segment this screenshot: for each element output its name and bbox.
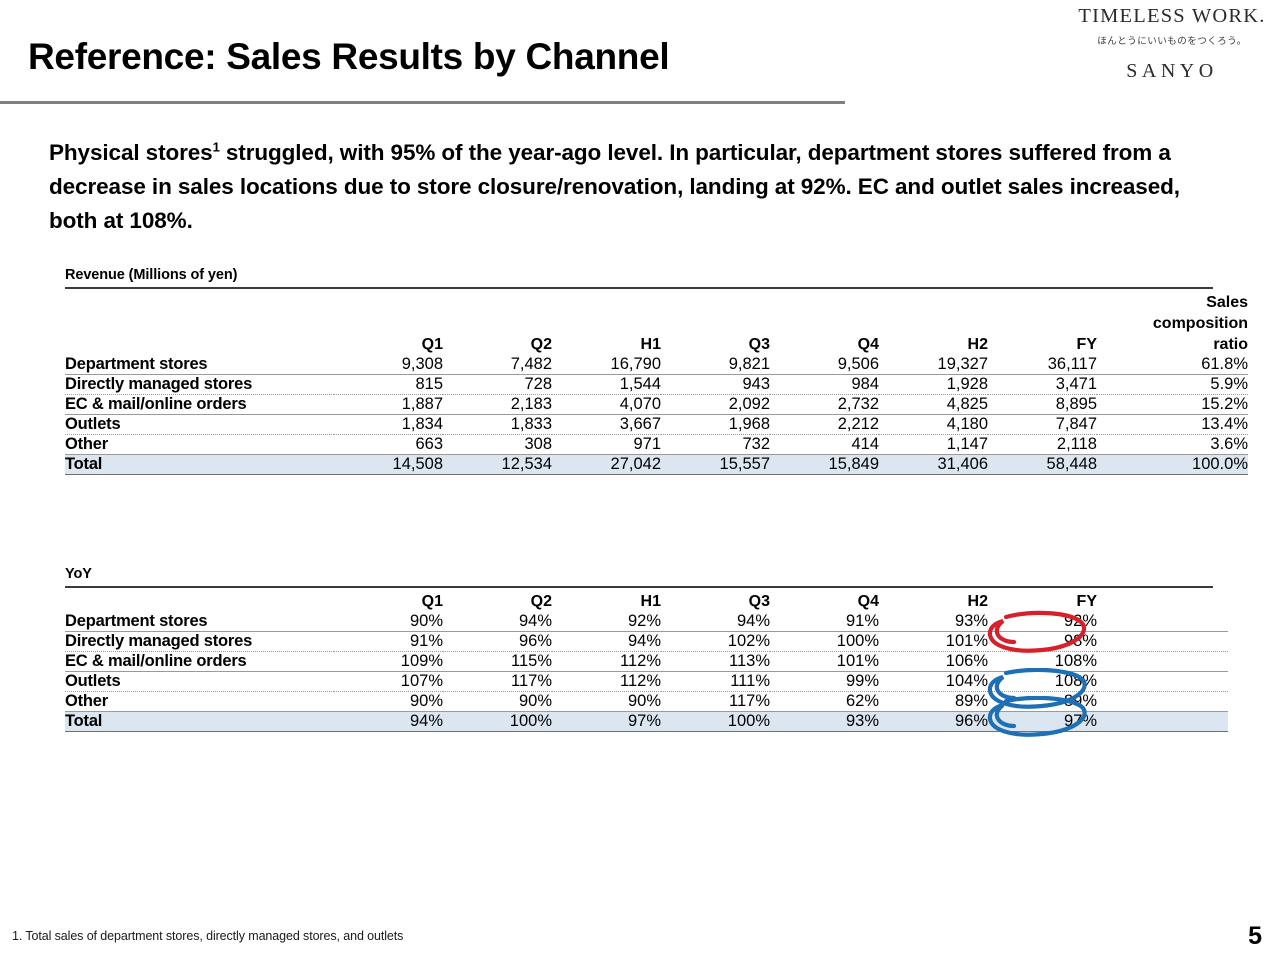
revenue-ratio-cell: 100.0%	[1097, 455, 1248, 475]
revenue-header-row: Q1 Q2 H1 Q3 Q4 H2 FY Sales composition r…	[65, 292, 1248, 355]
yoy-cell: 96%	[879, 712, 988, 732]
revenue-row-label: Other	[65, 435, 334, 455]
revenue-row-label: Total	[65, 455, 334, 475]
revenue-row-label: Directly managed stores	[65, 375, 334, 395]
yoy-cell: 117%	[443, 672, 552, 692]
revenue-cell: 1,833	[443, 415, 552, 435]
yoy-cell: 107%	[334, 672, 443, 692]
yoy-cell: 90%	[334, 612, 443, 632]
revenue-cell: 19,327	[879, 355, 988, 375]
yoy-cell: 97%	[552, 712, 661, 732]
yoy-cell: 96%	[443, 632, 552, 652]
revenue-cell: 732	[661, 435, 770, 455]
yoy-row-label: Other	[65, 692, 334, 712]
yoy-row-label: Outlets	[65, 672, 334, 692]
yoy-cell: 109%	[334, 652, 443, 672]
revenue-cell: 15,849	[770, 455, 879, 475]
revenue-cell: 414	[770, 435, 879, 455]
revenue-cell: 308	[443, 435, 552, 455]
yoy-header-h2: H2	[879, 591, 988, 612]
revenue-header-sales-composition-ratio: Sales composition ratio	[1097, 292, 1248, 355]
revenue-ratio-cell: 5.9%	[1097, 375, 1248, 395]
yoy-cell: 90%	[552, 692, 661, 712]
revenue-cell: 943	[661, 375, 770, 395]
revenue-row-label: Department stores	[65, 355, 334, 375]
revenue-cell: 9,506	[770, 355, 879, 375]
revenue-header-fy: FY	[988, 292, 1097, 355]
revenue-cell: 58,448	[988, 455, 1097, 475]
brand-logo: TIMELESS WORK. ほんとうにいいものをつくろう。 SANYO	[1072, 6, 1272, 83]
lead-paragraph-part1: Physical stores	[49, 140, 213, 165]
revenue-cell: 7,482	[443, 355, 552, 375]
revenue-cell: 4,180	[879, 415, 988, 435]
revenue-header-q2: Q2	[443, 292, 552, 355]
revenue-cell: 1,147	[879, 435, 988, 455]
yoy-cell: 99%	[770, 672, 879, 692]
yoy-cell: 97%	[988, 712, 1097, 732]
revenue-cell: 27,042	[552, 455, 661, 475]
ratio-header-line1: Sales	[1097, 292, 1248, 313]
page-number: 5	[1248, 922, 1262, 951]
yoy-header-q4: Q4	[770, 591, 879, 612]
revenue-ratio-cell: 13.4%	[1097, 415, 1248, 435]
revenue-cell: 3,471	[988, 375, 1097, 395]
revenue-header-q4: Q4	[770, 292, 879, 355]
yoy-header-q1: Q1	[334, 591, 443, 612]
yoy-cell: 92%	[988, 612, 1097, 632]
logo-wordmark: TIMELESS WORK.	[1072, 6, 1272, 28]
yoy-header-q3: Q3	[661, 591, 770, 612]
logo-company-name: SANYO	[1072, 60, 1272, 83]
yoy-total-row: Total94%100%97%100%93%96%97%	[65, 712, 1228, 732]
revenue-cell: 4,070	[552, 395, 661, 415]
ratio-header-line3: ratio	[1097, 334, 1248, 355]
yoy-header-fy: FY	[988, 591, 1097, 612]
table-row: Directly managed stores8157281,544943984…	[65, 375, 1248, 395]
title-divider	[0, 101, 845, 104]
yoy-header-q2: Q2	[443, 591, 552, 612]
revenue-cell: 1,968	[661, 415, 770, 435]
yoy-cell: 92%	[552, 612, 661, 632]
yoy-cell: 104%	[879, 672, 988, 692]
yoy-pad-cell	[1097, 692, 1228, 712]
yoy-cell: 90%	[334, 692, 443, 712]
yoy-pad-cell	[1097, 652, 1228, 672]
revenue-cell: 728	[443, 375, 552, 395]
yoy-cell: 94%	[661, 612, 770, 632]
yoy-cell: 102%	[661, 632, 770, 652]
yoy-cell: 91%	[334, 632, 443, 652]
yoy-cell: 93%	[770, 712, 879, 732]
yoy-cell: 108%	[988, 652, 1097, 672]
table-row: Department stores90%94%92%94%91%93%92%	[65, 612, 1228, 632]
revenue-cell: 1,834	[334, 415, 443, 435]
revenue-cell: 3,667	[552, 415, 661, 435]
revenue-cell: 2,732	[770, 395, 879, 415]
revenue-header-h2: H2	[879, 292, 988, 355]
yoy-cell: 62%	[770, 692, 879, 712]
yoy-cell: 94%	[443, 612, 552, 632]
yoy-cell: 117%	[661, 692, 770, 712]
table-row: Department stores9,3087,48216,7909,8219,…	[65, 355, 1248, 375]
revenue-header-q1: Q1	[334, 292, 443, 355]
revenue-cell: 9,821	[661, 355, 770, 375]
table-row: Other6633089717324141,1472,1183.6%	[65, 435, 1248, 455]
revenue-cell: 16,790	[552, 355, 661, 375]
yoy-header-h1: H1	[552, 591, 661, 612]
yoy-caption-rule	[65, 586, 1213, 588]
revenue-cell: 2,183	[443, 395, 552, 415]
revenue-cell: 9,308	[334, 355, 443, 375]
revenue-header-blank	[65, 292, 334, 355]
revenue-cell: 815	[334, 375, 443, 395]
yoy-table: Q1 Q2 H1 Q3 Q4 H2 FY Department stores90…	[65, 591, 1228, 732]
revenue-ratio-cell: 61.8%	[1097, 355, 1248, 375]
revenue-cell: 15,557	[661, 455, 770, 475]
table-row: Directly managed stores91%96%94%102%100%…	[65, 632, 1228, 652]
yoy-table-caption: YoY	[65, 566, 92, 582]
yoy-cell: 91%	[770, 612, 879, 632]
yoy-row-label: EC & mail/online orders	[65, 652, 334, 672]
table-row: Other90%90%90%117%62%89%89%	[65, 692, 1228, 712]
revenue-cell: 1,887	[334, 395, 443, 415]
yoy-cell: 94%	[552, 632, 661, 652]
table-row: Outlets107%117%112%111%99%104%108%	[65, 672, 1228, 692]
revenue-cell: 2,118	[988, 435, 1097, 455]
yoy-cell: 106%	[879, 652, 988, 672]
yoy-pad-cell	[1097, 712, 1228, 732]
revenue-header-h1: H1	[552, 292, 661, 355]
revenue-table: Q1 Q2 H1 Q3 Q4 H2 FY Sales composition r…	[65, 292, 1248, 475]
yoy-header-blank	[65, 591, 334, 612]
page-title: Reference: Sales Results by Channel	[28, 36, 669, 78]
revenue-cell: 971	[552, 435, 661, 455]
ratio-header-line2: composition	[1097, 313, 1248, 334]
yoy-cell: 101%	[770, 652, 879, 672]
revenue-cell: 12,534	[443, 455, 552, 475]
yoy-cell: 89%	[879, 692, 988, 712]
revenue-cell: 4,825	[879, 395, 988, 415]
revenue-cell: 31,406	[879, 455, 988, 475]
revenue-row-label: EC & mail/online orders	[65, 395, 334, 415]
revenue-cell: 36,117	[988, 355, 1097, 375]
yoy-header-row: Q1 Q2 H1 Q3 Q4 H2 FY	[65, 591, 1228, 612]
revenue-cell: 2,092	[661, 395, 770, 415]
yoy-cell: 100%	[443, 712, 552, 732]
yoy-cell: 111%	[661, 672, 770, 692]
table-row: EC & mail/online orders109%115%112%113%1…	[65, 652, 1228, 672]
yoy-header-pad	[1097, 591, 1228, 612]
table-row: EC & mail/online orders1,8872,1834,0702,…	[65, 395, 1248, 415]
revenue-cell: 663	[334, 435, 443, 455]
logo-tagline: ほんとうにいいものをつくろう。	[1072, 33, 1272, 47]
yoy-cell: 108%	[988, 672, 1097, 692]
revenue-cell: 984	[770, 375, 879, 395]
revenue-caption-rule	[65, 287, 1213, 289]
yoy-cell: 113%	[661, 652, 770, 672]
revenue-cell: 8,895	[988, 395, 1097, 415]
yoy-pad-cell	[1097, 672, 1228, 692]
yoy-cell: 101%	[879, 632, 988, 652]
yoy-pad-cell	[1097, 632, 1228, 652]
yoy-cell: 90%	[443, 692, 552, 712]
yoy-row-label: Directly managed stores	[65, 632, 334, 652]
yoy-cell: 112%	[552, 652, 661, 672]
yoy-cell: 89%	[988, 692, 1097, 712]
yoy-cell: 93%	[879, 612, 988, 632]
revenue-total-row: Total14,50812,53427,04215,55715,84931,40…	[65, 455, 1248, 475]
lead-paragraph: Physical stores1 struggled, with 95% of …	[49, 136, 1189, 238]
yoy-row-label: Department stores	[65, 612, 334, 632]
yoy-pad-cell	[1097, 612, 1228, 632]
revenue-cell: 14,508	[334, 455, 443, 475]
revenue-cell: 2,212	[770, 415, 879, 435]
footnote-marker: 1	[213, 140, 220, 155]
revenue-cell: 1,928	[879, 375, 988, 395]
yoy-cell: 100%	[661, 712, 770, 732]
yoy-cell: 94%	[334, 712, 443, 732]
revenue-ratio-cell: 3.6%	[1097, 435, 1248, 455]
table-row: Outlets1,8341,8333,6671,9682,2124,1807,8…	[65, 415, 1248, 435]
yoy-row-label: Total	[65, 712, 334, 732]
revenue-cell: 1,544	[552, 375, 661, 395]
yoy-cell: 98%	[988, 632, 1097, 652]
revenue-row-label: Outlets	[65, 415, 334, 435]
revenue-cell: 7,847	[988, 415, 1097, 435]
yoy-cell: 100%	[770, 632, 879, 652]
yoy-cell: 112%	[552, 672, 661, 692]
revenue-ratio-cell: 15.2%	[1097, 395, 1248, 415]
revenue-header-q3: Q3	[661, 292, 770, 355]
footnote-text: 1. Total sales of department stores, dir…	[12, 929, 403, 943]
yoy-cell: 115%	[443, 652, 552, 672]
revenue-table-caption: Revenue (Millions of yen)	[65, 267, 237, 283]
